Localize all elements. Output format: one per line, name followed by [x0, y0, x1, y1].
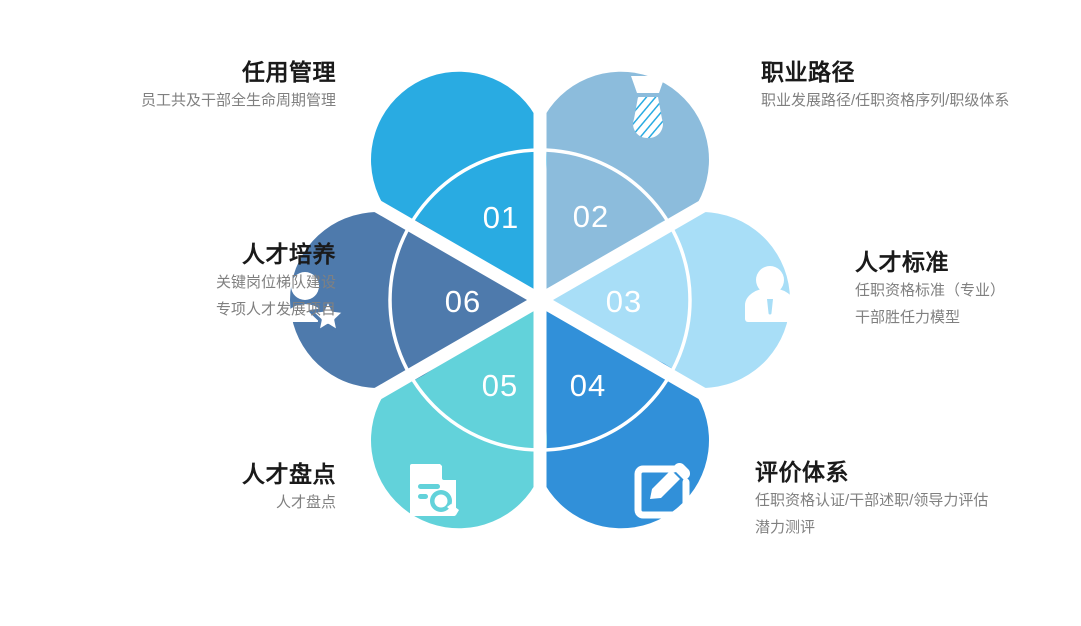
petal-subtitle-02-0: 职业发展路径/任职资格序列/职级体系 — [761, 88, 1009, 115]
petal-number-06: 06 — [445, 284, 481, 319]
petal-number-02: 02 — [573, 199, 609, 234]
petal-number-04: 04 — [570, 368, 606, 403]
petal-number-05: 05 — [482, 368, 518, 403]
petal-title-02: 职业路径 — [761, 58, 1009, 88]
petal-subtitle-03-0: 任职资格标准（专业） — [855, 278, 1005, 305]
petal-subtitle-01-0: 员工共及干部全生命周期管理 — [141, 88, 336, 115]
petal-subtitle-04-0: 任职资格认证/干部述职/领导力评估 — [755, 488, 988, 515]
label-block-04: 评价体系 任职资格认证/干部述职/领导力评估 潜力测评 — [755, 458, 988, 541]
petal-subtitle-03-1: 干部胜任力模型 — [855, 305, 1005, 332]
petal-subtitle-05-0: 人才盘点 — [242, 490, 336, 517]
petal-subtitle-04-1: 潜力测评 — [755, 515, 988, 542]
petal-subtitle-06-1: 专项人才发展项目 — [216, 297, 336, 324]
petal-number-03: 03 — [606, 284, 642, 319]
petal-number-01: 01 — [483, 200, 519, 235]
label-block-05: 人才盘点 人才盘点 — [242, 460, 336, 517]
petal-title-04: 评价体系 — [755, 458, 988, 488]
petal-title-01: 任用管理 — [141, 58, 336, 88]
label-block-06: 人才培养 关键岗位梯队建设 专项人才发展项目 — [216, 240, 336, 323]
petal-title-05: 人才盘点 — [242, 460, 336, 490]
label-block-03: 人才标准 任职资格标准（专业） 干部胜任力模型 — [855, 248, 1005, 331]
petal-subtitle-06-0: 关键岗位梯队建设 — [216, 270, 336, 297]
label-block-02: 职业路径 职业发展路径/任职资格序列/职级体系 — [761, 58, 1009, 115]
petal-title-06: 人才培养 — [216, 240, 336, 270]
petal-title-03: 人才标准 — [855, 248, 1005, 278]
label-block-01: 任用管理 员工共及干部全生命周期管理 — [141, 58, 336, 115]
